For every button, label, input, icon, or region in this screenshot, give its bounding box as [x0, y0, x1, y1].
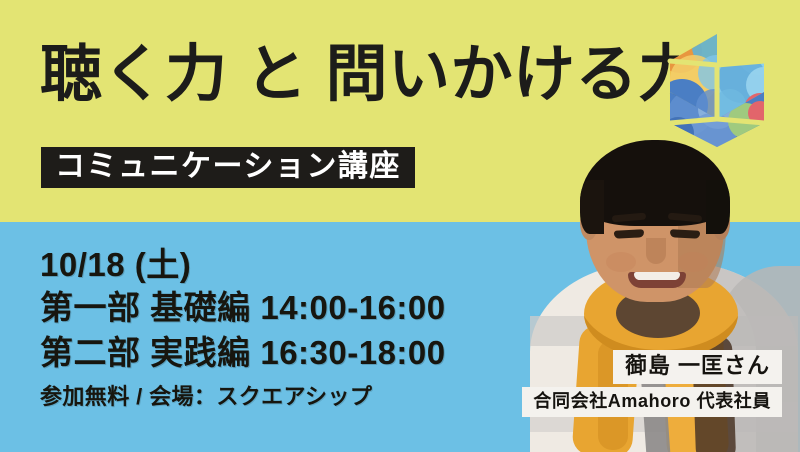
nose: [646, 238, 666, 264]
session-part1: 第一部 基礎編 14:00-16:00: [40, 285, 446, 330]
course-category-badge: コミュニケーション講座: [41, 147, 415, 188]
eye-right: [670, 229, 700, 239]
fee-and-venue: 参加無料 / 会場：スクエアシップ: [40, 383, 446, 411]
hair-side-right: [706, 180, 730, 234]
cheek-right: [678, 252, 708, 272]
event-details: 10/18 (土) 第一部 基礎編 14:00-16:00 第二部 実践編 16…: [40, 244, 446, 411]
session-part2: 第二部 実践編 16:30-18:00: [40, 330, 446, 375]
poster-title: 聴く力 と 問いかける力: [40, 36, 700, 114]
speaker-affiliation: 合同会社Amahoro 代表社員: [522, 387, 782, 417]
cheek-left: [606, 252, 636, 272]
teeth: [634, 272, 680, 280]
event-poster: 聴く力 と 問いかける力 コミュニケーション講座: [0, 0, 800, 452]
hexagon-cube-logo-icon: [656, 29, 778, 151]
speaker-name: 蓹島 一匡さん: [613, 350, 782, 384]
eye-left: [614, 229, 644, 239]
hair-side-left: [580, 180, 604, 234]
event-date: 10/18 (土): [40, 244, 446, 285]
